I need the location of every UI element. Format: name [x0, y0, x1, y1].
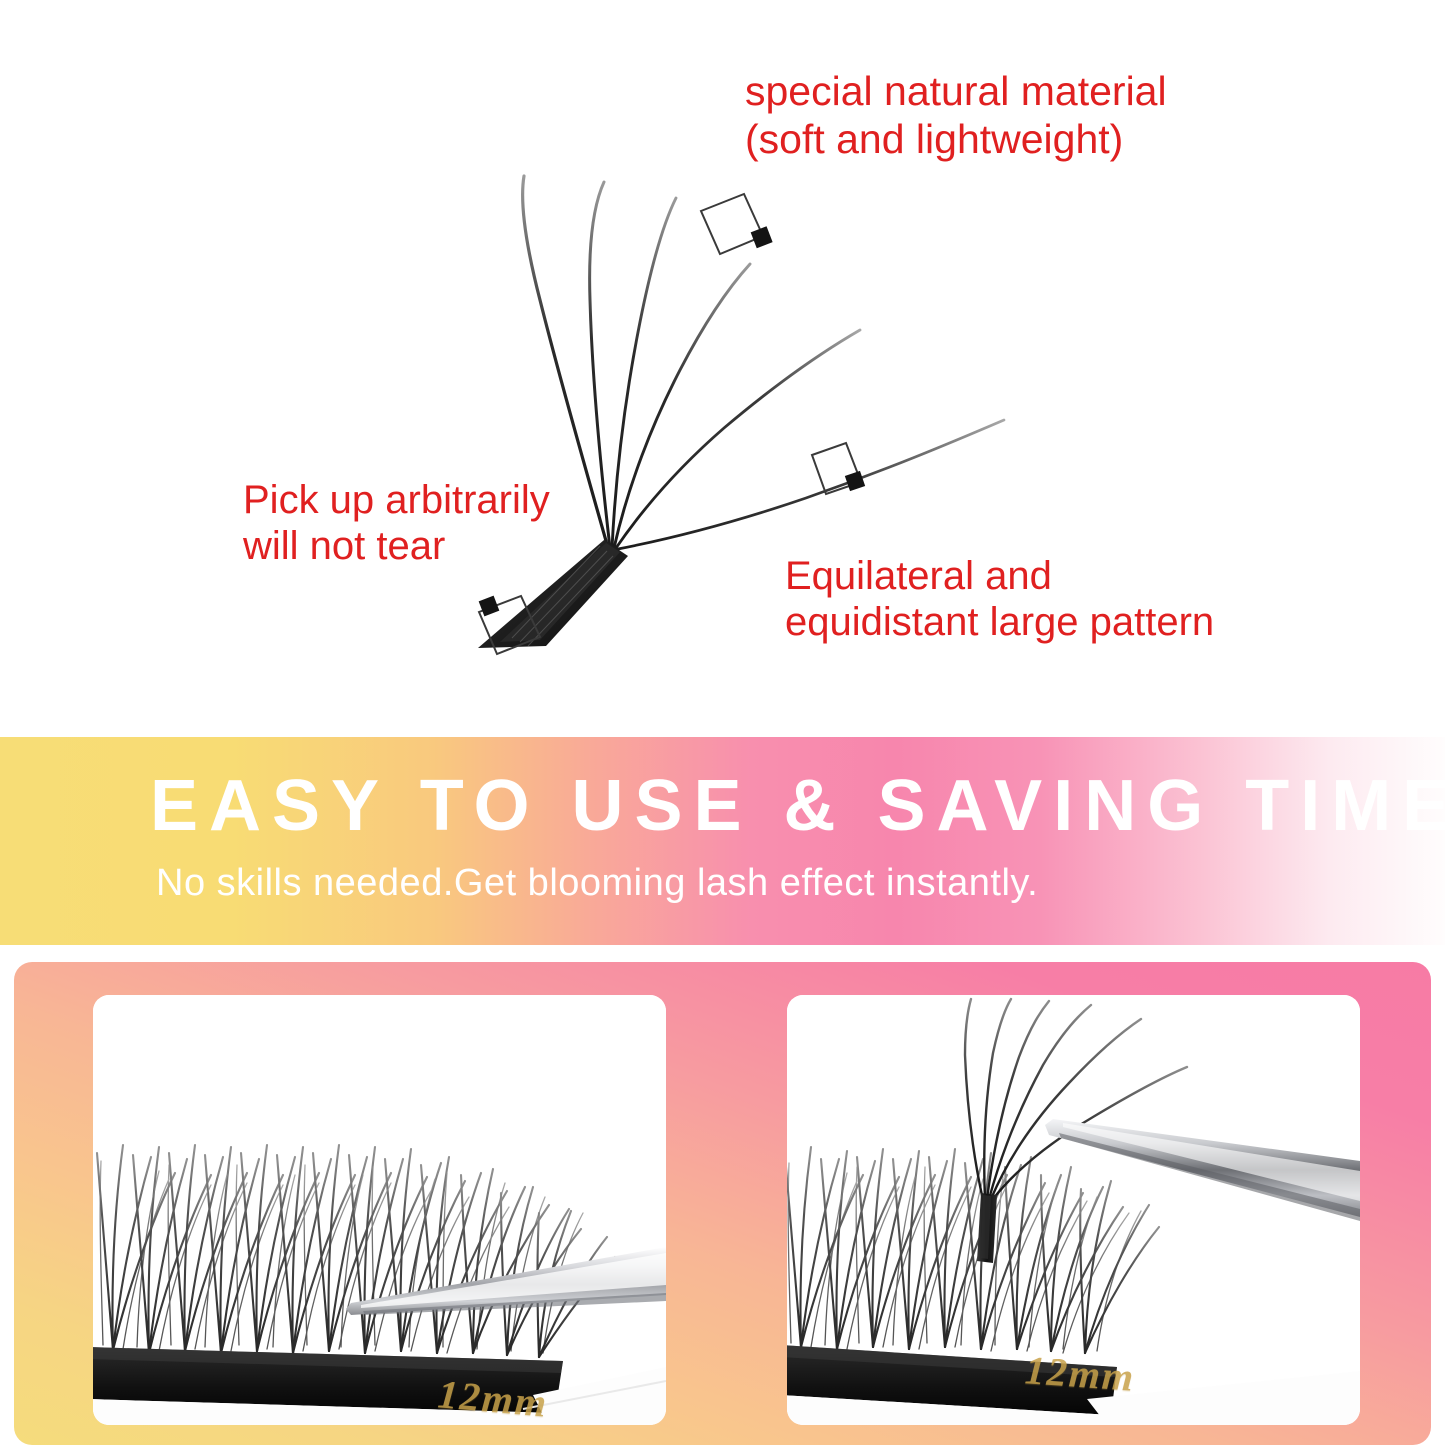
headline-banner: EASY TO USE & SAVING TIME No skills need…: [0, 737, 1445, 945]
zoom-marker-upper: [701, 194, 773, 254]
photo-gallery-section: 12mm: [0, 945, 1445, 1445]
lash-fan-diagram: [0, 0, 1445, 737]
headline-title: EASY TO USE & SAVING TIME: [150, 769, 1445, 845]
callout-pick-up-arbitrarily: Pick up arbitrarily will not tear: [243, 477, 550, 570]
gallery-gradient-panel: 12mm: [14, 962, 1431, 1445]
feature-illustration-section: special natural material (soft and light…: [0, 0, 1445, 737]
size-label-left-photo: 12mm: [436, 1370, 550, 1425]
photo-card-fan-pickup: 12mm: [787, 995, 1360, 1425]
size-label-right-photo: 12mm: [1023, 1346, 1136, 1401]
photo-lash-tray-image: [93, 995, 666, 1425]
callout-special-natural-material: special natural material (soft and light…: [745, 68, 1167, 163]
headline-subtitle: No skills needed.Get blooming lash effec…: [156, 862, 1038, 905]
callout-equilateral-equidistant: Equilateral and equidistant large patter…: [785, 553, 1214, 646]
photo-card-lash-tray: 12mm: [93, 995, 666, 1425]
